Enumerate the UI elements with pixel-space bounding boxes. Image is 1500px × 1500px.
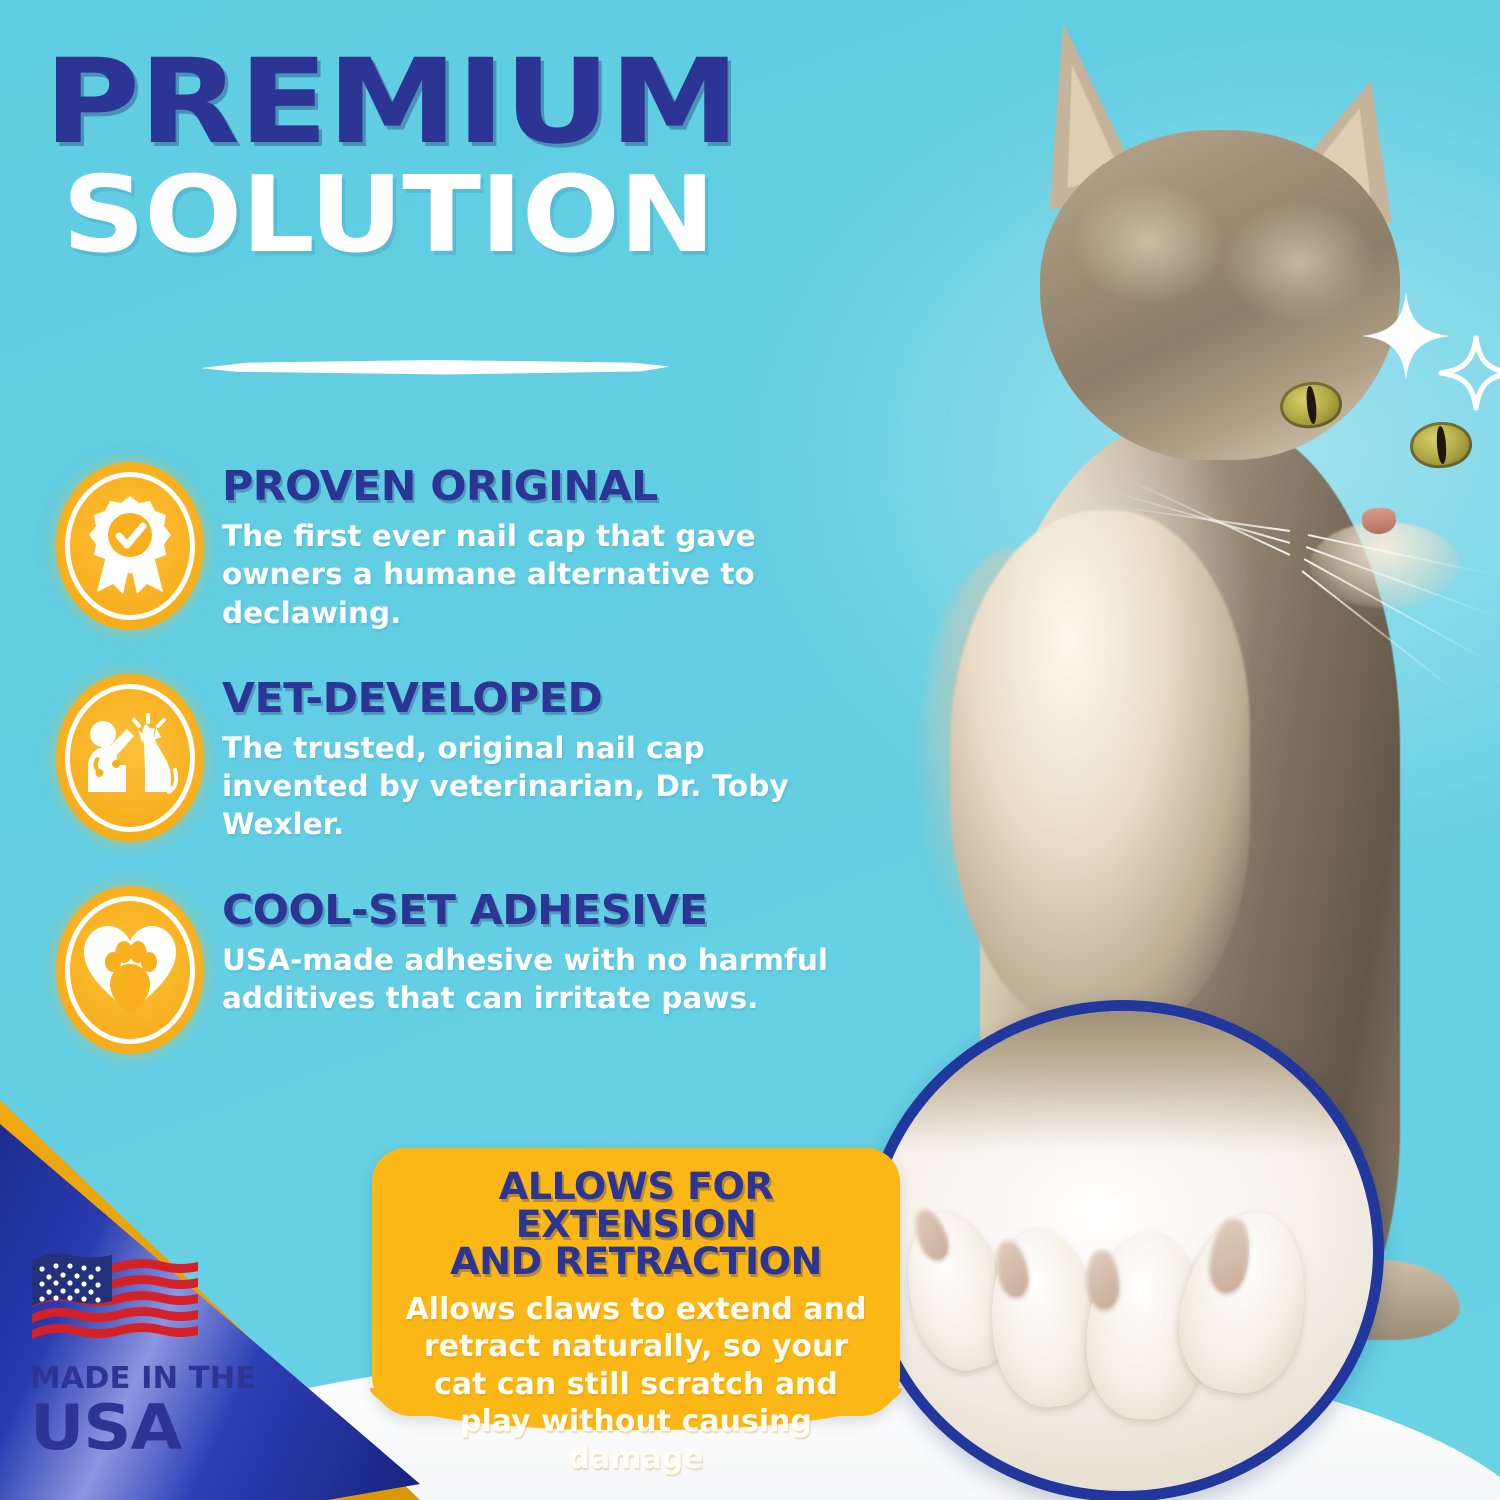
feature-body: USA-made adhesive with no harmful additi… (222, 941, 856, 1018)
cat-chest-ruff (950, 510, 1250, 1030)
feature-item-proven-original: PROVEN ORIGINAL The first ever nail cap … (56, 462, 856, 632)
callout-title-line-2: AND RETRACTION (387, 1243, 886, 1281)
headline-line-2: SOLUTION (62, 166, 933, 266)
callout-body: Allows claws to extend and retract natur… (394, 1291, 878, 1477)
made-in-usa-badge: MADE IN THE USA (30, 1252, 280, 1458)
feature-body: The first ever nail cap that gave owners… (222, 517, 856, 632)
made-in-usa-line-2: USA (30, 1398, 300, 1458)
usa-flag-icon (30, 1252, 200, 1347)
cat-eye-left (1278, 379, 1344, 431)
feature-title: PROVEN ORIGINAL (222, 466, 881, 508)
cat-paw-with-nail-caps-photo (862, 1000, 1384, 1500)
paw-fur-shading (862, 1000, 1384, 1165)
vet-high-five-cat-icon (56, 674, 204, 842)
feature-body: The trusted, original nail cap invented … (222, 729, 856, 844)
feature-title: COOL-SET ADHESIVE (222, 890, 881, 932)
feature-list: PROVEN ORIGINAL The first ever nail cap … (56, 462, 856, 1096)
lens-divider-icon (200, 356, 670, 378)
page-title: PREMIUM SOLUTION (44, 48, 854, 265)
feature-item-vet-developed: VET-DEVELOPED The trusted, original nail… (56, 674, 856, 844)
heart-paw-icon (56, 886, 204, 1054)
award-ribbon-check-icon (56, 462, 204, 630)
callout-extension-retraction: ALLOWS FOR EXTENSION AND RETRACTION Allo… (372, 1148, 900, 1416)
feature-title: VET-DEVELOPED (222, 678, 881, 720)
feature-item-cool-set-adhesive: COOL-SET ADHESIVE USA-made adhesive with… (56, 886, 856, 1054)
cat-eye-right (1408, 420, 1473, 470)
cat-head (1040, 130, 1400, 460)
product-infographic: PREMIUM SOLUTION PROVEN ORIGINAL The fir… (0, 0, 1500, 1500)
sparkle-outline-icon (1438, 335, 1500, 411)
headline-line-1: PREMIUM (44, 48, 951, 156)
callout-title-line-1: ALLOWS FOR EXTENSION (387, 1168, 886, 1243)
